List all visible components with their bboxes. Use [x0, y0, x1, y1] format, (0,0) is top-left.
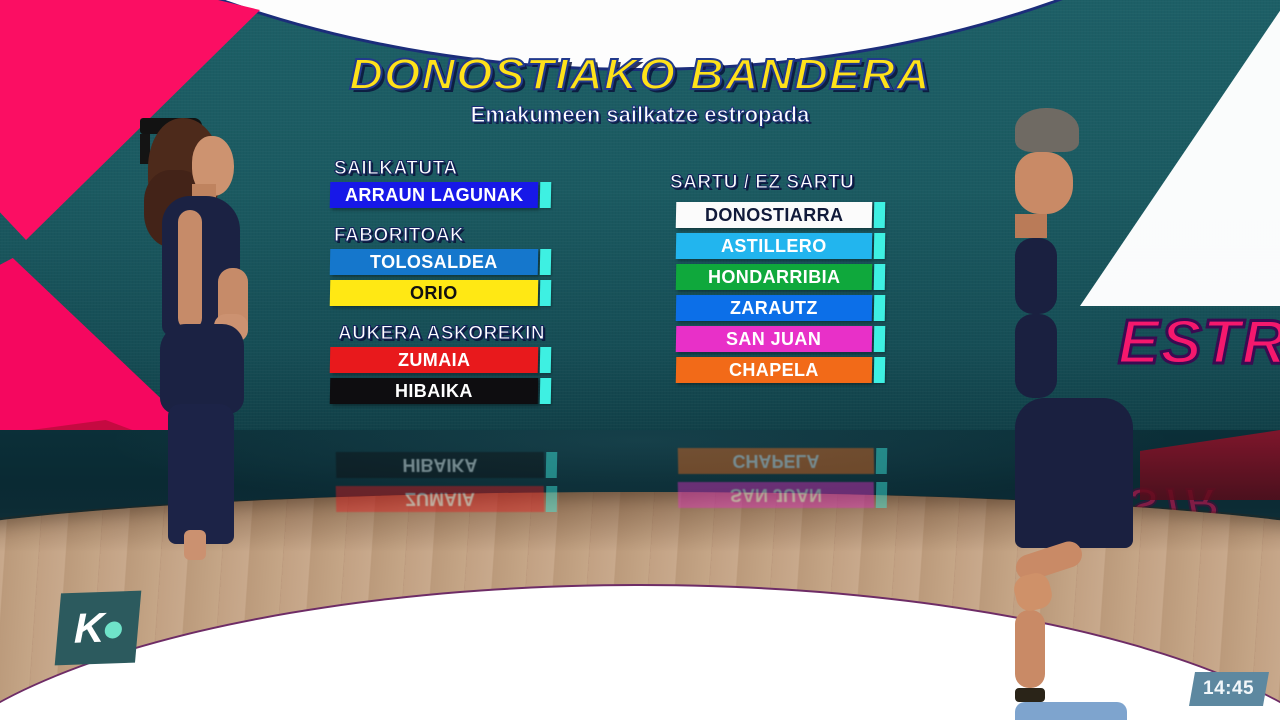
- graphic-subtitle: Emakumeen sailkatze estropada: [0, 102, 1280, 128]
- crew-bar-reflection: HIBAIKA: [336, 452, 545, 478]
- crew-name-reflection: ZUMAIA: [405, 486, 476, 512]
- broadcast-frame: ESTR ESTR DONOSTI: [0, 0, 1280, 720]
- crew-name: ARRAUN LAGUNAK: [345, 182, 524, 208]
- crew-bar-hibaika: HIBAIKA: [330, 378, 539, 404]
- crew-bar-tolosaldea: TOLOSALDEA: [330, 249, 539, 275]
- group-header: AUKERA ASKOREKIN: [338, 323, 545, 345]
- bar-accent-tab: [874, 326, 886, 352]
- crew-bar-astillero: ASTILLERO: [676, 233, 873, 259]
- bar-accent-tab: [874, 264, 886, 290]
- group-header: SARTU / EZ SARTU: [670, 172, 854, 194]
- crew-name: ASTILLERO: [721, 233, 827, 259]
- group-header: SAILKATUTA: [334, 158, 458, 180]
- logo-letter: K: [74, 604, 103, 653]
- bar-accent-tab: [540, 378, 552, 404]
- crew-bar-zarautz: ZARAUTZ: [676, 295, 873, 321]
- crew-bar-chapela: CHAPELA: [676, 357, 873, 383]
- bar-accent-tab: [540, 280, 552, 306]
- bar-accent-tab-reflection: [876, 448, 888, 474]
- clock-time: 14:45: [1203, 678, 1254, 700]
- crew-name: HONDARRIBIA: [708, 264, 840, 290]
- crew-bar-orio: ORIO: [330, 280, 539, 306]
- crew-name: DONOSTIARRA: [705, 202, 843, 228]
- bar-accent-tab: [540, 347, 552, 373]
- crew-name: ZUMAIA: [398, 347, 470, 373]
- bar-accent-tab: [874, 233, 886, 259]
- crew-bar-hondarribia: HONDARRIBIA: [676, 264, 873, 290]
- crew-name: TOLOSALDEA: [370, 249, 498, 275]
- crew-name: ZARAUTZ: [730, 295, 818, 321]
- on-screen-clock: 14:45: [1189, 672, 1269, 706]
- race-graphic-panel: DONOSTIAKO BANDERA Emakumeen sailkatze e…: [0, 0, 1280, 440]
- crew-bar-san-juan: SAN JUAN: [676, 326, 873, 352]
- crew-name-reflection: HIBAIKA: [402, 452, 478, 478]
- bar-accent-tab: [540, 182, 552, 208]
- man-arm-right: [1015, 610, 1045, 688]
- crew-name: ORIO: [410, 280, 458, 306]
- bar-accent-tab-reflection: [876, 482, 888, 508]
- crew-bar-zumaia: ZUMAIA: [330, 347, 539, 373]
- woman-ankle: [184, 530, 206, 560]
- crew-bar-reflection: ZUMAIA: [336, 486, 545, 512]
- crew-name-reflection: CHAPELA: [732, 448, 820, 474]
- crew-bar-donostiarra: DONOSTIARRA: [676, 202, 873, 228]
- logo-dot-icon: [104, 621, 123, 639]
- crew-name: HIBAIKA: [395, 378, 473, 404]
- bar-accent-tab: [540, 249, 552, 275]
- crew-name-reflection: SAN JUAN: [730, 482, 823, 508]
- channel-logo: K: [55, 591, 142, 666]
- man-wristwatch: [1015, 688, 1045, 702]
- bar-accent-tab: [874, 357, 886, 383]
- crew-bar-arraun-lagunak: ARRAUN LAGUNAK: [330, 182, 539, 208]
- crew-name: SAN JUAN: [726, 326, 821, 352]
- bar-accent-tab-reflection: [546, 486, 558, 512]
- bar-accent-tab-reflection: [546, 452, 558, 478]
- bar-accent-tab: [874, 202, 886, 228]
- group-header: FABORITOAK: [334, 225, 464, 247]
- graphic-title: DONOSTIAKO BANDERA: [0, 50, 1280, 100]
- crew-bar-reflection: CHAPELA: [678, 448, 875, 474]
- crew-bar-reflection: SAN JUAN: [678, 482, 875, 508]
- bar-accent-tab: [874, 295, 886, 321]
- crew-name: CHAPELA: [729, 357, 819, 383]
- man-jeans: [1015, 702, 1127, 720]
